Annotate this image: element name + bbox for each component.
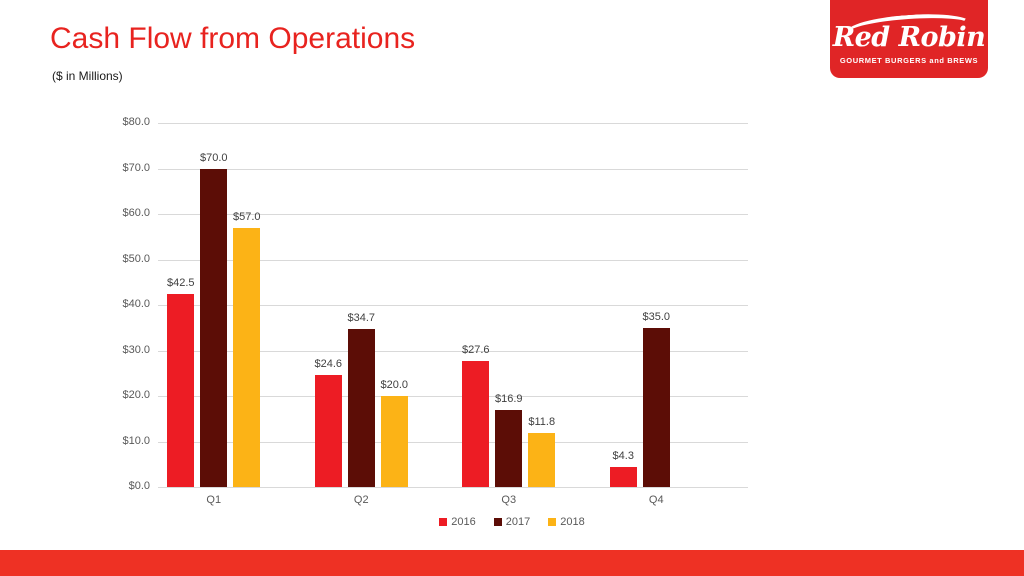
y-axis-tick-label: $60.0 <box>90 207 150 219</box>
footer-band <box>0 550 1024 576</box>
chart-legend: 201620172018 <box>0 516 1024 528</box>
bar-value-label: $57.0 <box>219 211 274 223</box>
cash-flow-bar-chart: $0.0$10.0$20.0$30.0$40.0$50.0$60.0$70.0$… <box>0 0 1024 545</box>
gridline <box>158 487 748 488</box>
x-axis-tick-label-q1: Q1 <box>147 494 280 506</box>
bar-value-label: $11.8 <box>514 416 569 428</box>
legend-item-2018[interactable]: 2018 <box>548 516 584 528</box>
y-axis-tick-label: $30.0 <box>90 344 150 356</box>
legend-swatch-icon <box>494 518 502 526</box>
legend-swatch-icon <box>548 518 556 526</box>
bar-value-label: $27.6 <box>448 344 503 356</box>
y-axis-tick-label: $10.0 <box>90 435 150 447</box>
bar-q3-2018[interactable] <box>528 433 555 487</box>
bar-value-label: $35.0 <box>629 311 684 323</box>
y-axis-tick-label: $80.0 <box>90 116 150 128</box>
bar-value-label: $16.9 <box>481 393 536 405</box>
y-axis-tick-label: $70.0 <box>90 162 150 174</box>
legend-label: 2018 <box>560 516 584 528</box>
bar-q3-2016[interactable] <box>462 361 489 487</box>
bar-q2-2016[interactable] <box>315 375 342 487</box>
plot-area: $42.5$70.0$57.0$24.6$34.7$20.0$27.6$16.9… <box>158 123 748 487</box>
bar-q2-2018[interactable] <box>381 396 408 487</box>
legend-label: 2016 <box>451 516 475 528</box>
legend-label: 2017 <box>506 516 530 528</box>
bar-value-label: $34.7 <box>334 312 389 324</box>
x-axis-tick-label-q3: Q3 <box>442 494 575 506</box>
bar-value-label: $20.0 <box>367 379 422 391</box>
y-axis-tick-label: $0.0 <box>90 480 150 492</box>
legend-swatch-icon <box>439 518 447 526</box>
y-axis-tick-label: $40.0 <box>90 298 150 310</box>
x-axis-tick-label-q2: Q2 <box>295 494 428 506</box>
bar-q2-2017[interactable] <box>348 329 375 487</box>
x-axis-tick-label-q4: Q4 <box>590 494 723 506</box>
bar-q4-2016[interactable] <box>610 467 637 487</box>
bar-q1-2016[interactable] <box>167 294 194 487</box>
gridline <box>158 169 748 170</box>
bar-value-label: $70.0 <box>186 152 241 164</box>
legend-item-2017[interactable]: 2017 <box>494 516 530 528</box>
legend-item-2016[interactable]: 2016 <box>439 516 475 528</box>
y-axis-tick-labels: $0.0$10.0$20.0$30.0$40.0$50.0$60.0$70.0$… <box>88 123 150 487</box>
bar-q4-2017[interactable] <box>643 328 670 487</box>
y-axis-tick-label: $20.0 <box>90 389 150 401</box>
y-axis-tick-label: $50.0 <box>90 253 150 265</box>
bar-q1-2018[interactable] <box>233 228 260 487</box>
gridline <box>158 123 748 124</box>
